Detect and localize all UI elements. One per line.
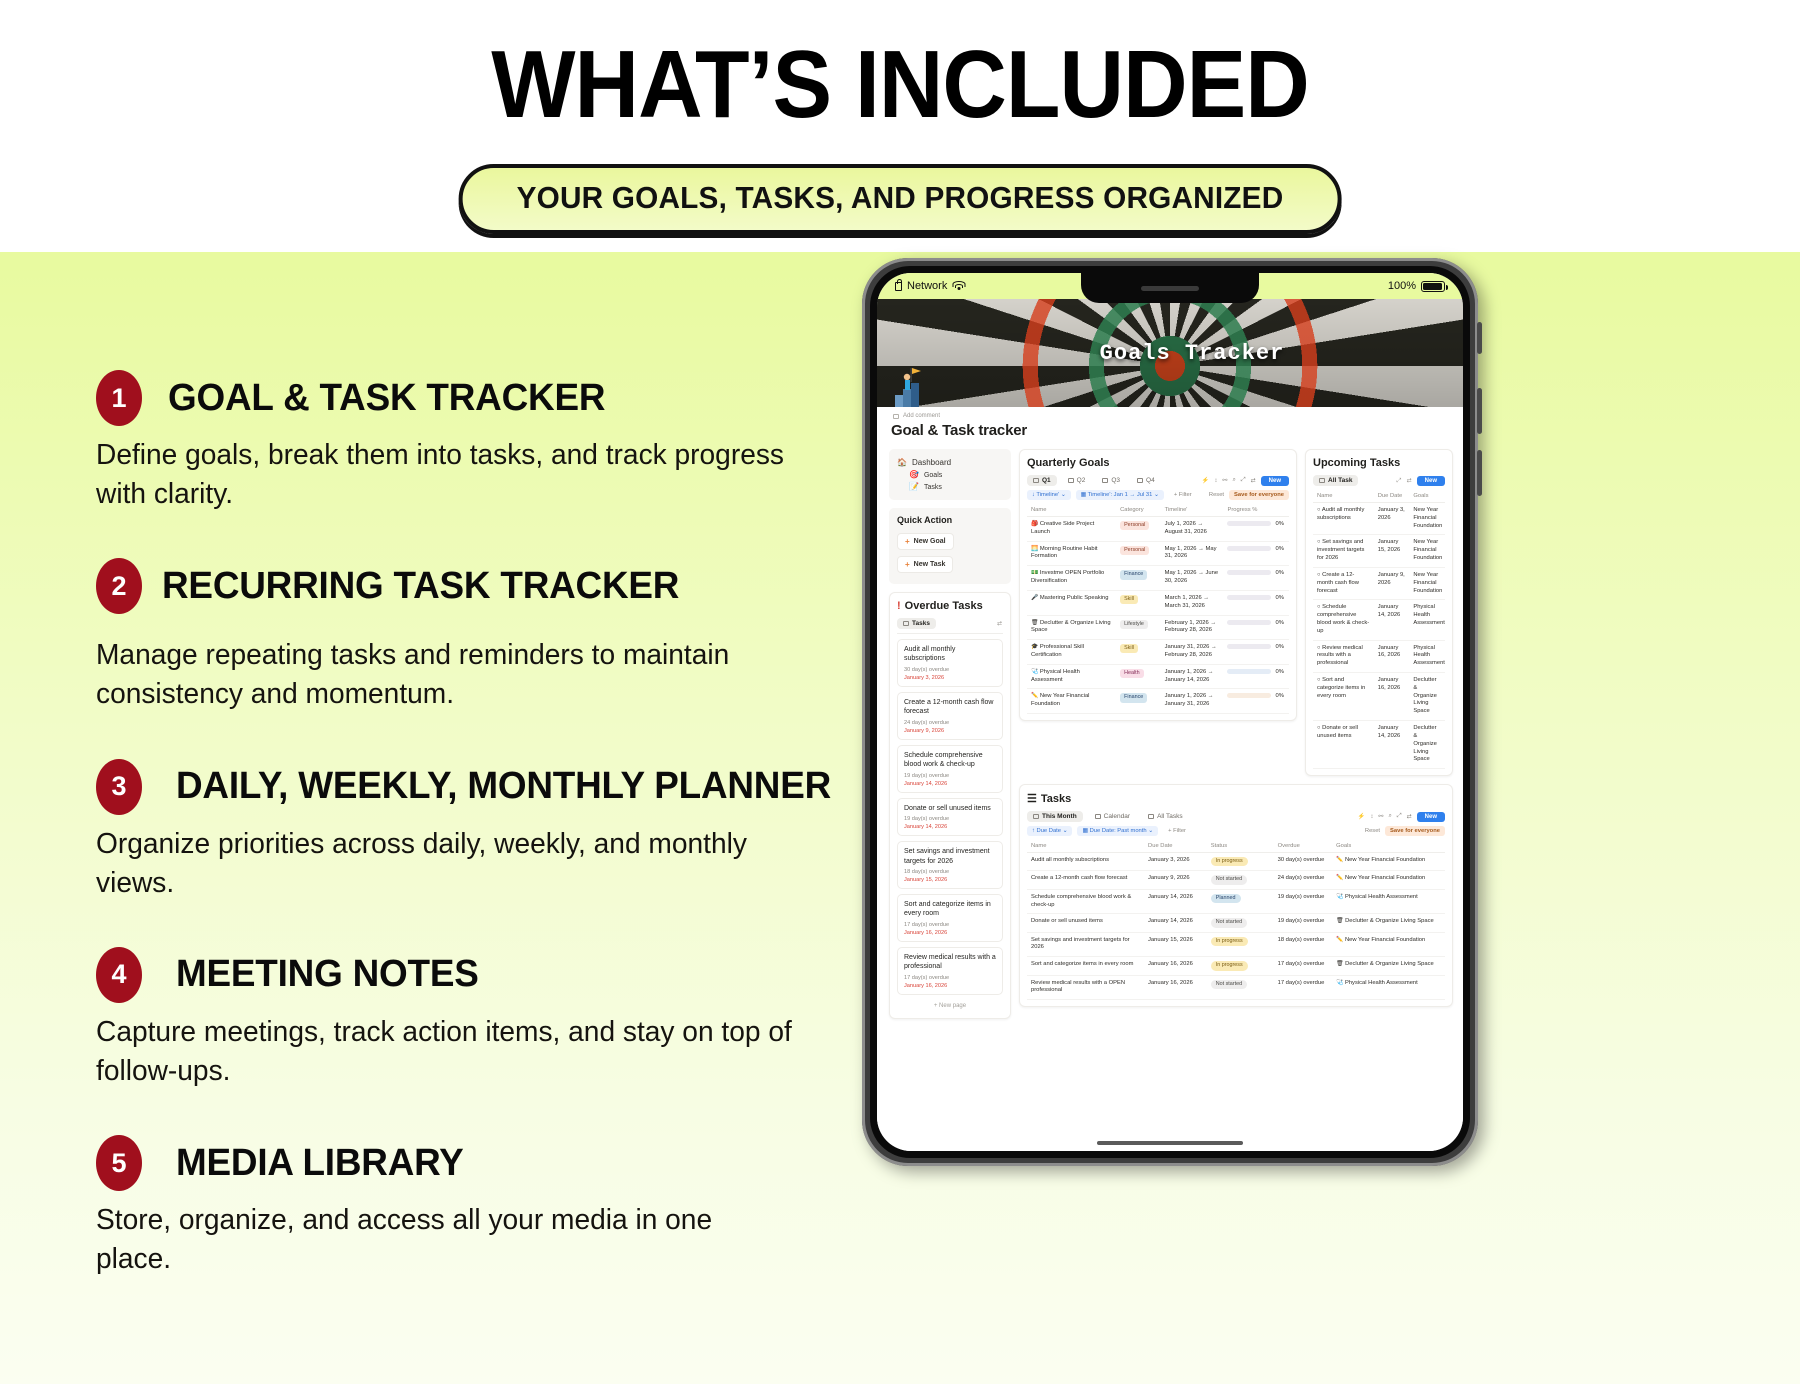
battery-icon (1421, 281, 1445, 292)
feature-title: GOAL & TASK TRACKER (168, 377, 605, 420)
feature-heading-row: 4 MEETING NOTES (96, 947, 926, 1003)
progress-label: 0% (1275, 693, 1283, 699)
feature-heading-row: 3 DAILY, WEEKLY, MONTHLY PLANNER (96, 759, 926, 815)
wifi-icon (952, 281, 965, 291)
col-goals: Goals (1332, 840, 1445, 853)
task-goal: 🗑 Declutter & Organize Living Space (1332, 957, 1445, 975)
sidebar-item-goals[interactable]: 🎯 Goals (897, 469, 1003, 481)
upcoming-tasks-panel: Upcoming Tasks All Task ⤢ ⇄ New (1305, 449, 1453, 776)
task-name: ○ Review medical results with a professi… (1313, 640, 1374, 672)
goal-name-label: Professional Skill Certification (1031, 644, 1084, 658)
task-due: January 3, 2026 (1144, 853, 1207, 871)
task-name-label: Sort and categorize items in every room (1317, 677, 1365, 699)
automation-icon[interactable]: ⚡ (1202, 477, 1209, 484)
feature-description: Manage repeating tasks and reminders to … (96, 636, 794, 714)
goal-label: New Year Financial Foundation (1345, 875, 1425, 881)
table-header-row: Name Due Date Status Overdue Goals (1027, 840, 1445, 853)
category-tag: Finance (1120, 693, 1147, 702)
task-date: January 16, 2026 (904, 983, 996, 989)
col-category: Category (1116, 504, 1161, 517)
feature-title: RECURRING TASK TRACKER (162, 565, 679, 608)
list-item[interactable]: Sort and categorize items in every room … (897, 894, 1003, 942)
table-row[interactable]: 🎓 Professional Skill Certification Skill… (1027, 640, 1289, 665)
category-tag: Health (1120, 669, 1144, 678)
new-goal-button[interactable]: + New Goal (897, 533, 954, 550)
save-for-everyone-button[interactable]: Save for everyone (1229, 490, 1289, 500)
quarterly-goals-toolbar: Q1 Q2 Q3 Q4 ⚡ ↕ ⚯ ⌕ (1027, 475, 1289, 486)
goal-name-label: New Year Financial Foundation (1031, 693, 1089, 707)
tab-q3-label: Q3 (1111, 477, 1120, 484)
feature-number-badge: 5 (96, 1135, 142, 1191)
goal-emoji-icon: ✏️ (1031, 693, 1038, 699)
notion-columns: 🏠 Dashboard 🎯 Goals 📝 Tasks (889, 449, 1453, 1019)
timeline-filter-chip[interactable]: ▦ Timeline': Jan 1 → Jul 31 ⌄ (1076, 490, 1164, 500)
goal-name-label: Mastering Public Speaking (1040, 595, 1109, 601)
status-badge: Not started (1211, 980, 1247, 989)
options-icon[interactable]: ⇄ (1407, 813, 1412, 820)
tablet-screen: Network 100% Goals Tracker (877, 273, 1463, 1151)
goal-emoji-icon: 🎒 (1031, 521, 1038, 527)
tab-this-month-label: This Month (1042, 813, 1077, 820)
sort-chip[interactable]: ↑ Due Date ⌄ (1027, 826, 1072, 836)
table-row[interactable]: 🎤 Mastering Public Speaking Skill March … (1027, 590, 1289, 615)
tab-all-task-label: All Task (1328, 477, 1352, 484)
goal-name: 🎤 Mastering Public Speaking (1027, 590, 1116, 615)
table-row[interactable]: ○ Create a 12-month cash flow forecastJa… (1313, 567, 1445, 599)
new-task-button[interactable]: + New Task (897, 556, 953, 573)
task-name: Schedule comprehensive blood work & chec… (904, 751, 996, 770)
tab-all-task[interactable]: All Task (1313, 475, 1358, 486)
filter-icon[interactable]: ⇄ (997, 621, 1003, 627)
feature-item: 5 MEDIA LIBRARY Store, organize, and acc… (96, 1135, 926, 1279)
save-for-everyone-button[interactable]: Save for everyone (1385, 826, 1445, 836)
checkbox-icon[interactable]: ○ (1317, 725, 1321, 731)
tablet-mockup: Network 100% Goals Tracker (862, 258, 1478, 1166)
task-goal: New Year Financial Foundation (1409, 503, 1445, 535)
goal-progress: 0% (1223, 517, 1289, 542)
feature-description: Store, organize, and access all your med… (96, 1201, 794, 1279)
new-page-button[interactable]: + New page (897, 1000, 1003, 1012)
list-icon: 📝 (909, 483, 919, 491)
category-tag: Personal (1120, 546, 1149, 555)
task-overdue: 18 day(s) overdue (1274, 932, 1333, 957)
new-goal-button[interactable]: New (1261, 476, 1289, 486)
feature-number-badge: 2 (96, 558, 142, 614)
expand-icon[interactable]: ⤢ (1397, 478, 1403, 484)
goal-progress: 0% (1223, 541, 1289, 566)
list-item[interactable]: Review medical results with a profession… (897, 947, 1003, 995)
goal-progress: 0% (1223, 590, 1289, 615)
task-name-label: Audit all monthly subscriptions (1317, 507, 1364, 521)
goal-timeline: March 1, 2026 → March 31, 2026 (1161, 590, 1224, 615)
overdue-tasks-title: Overdue Tasks (905, 600, 983, 612)
task-name: Set savings and investment targets for 2… (904, 847, 996, 866)
table-row[interactable]: ✏️ New Year Financial Foundation Finance… (1027, 689, 1289, 714)
progress-bar (1227, 521, 1271, 526)
goal-name: 💵 Investme OPEN Portfolio Diversificatio… (1027, 566, 1116, 591)
goal-timeline: May 1, 2026 → June 30, 2026 (1161, 566, 1224, 591)
task-overdue: 30 day(s) overdue (904, 667, 996, 673)
hero-title: Goals Tracker (877, 299, 1463, 407)
tab-q4[interactable]: Q4 (1131, 475, 1161, 486)
task-due: January 14, 2026 (1374, 721, 1410, 769)
goal-emoji-icon: ✏️ (1336, 857, 1343, 863)
goal-name: 🎓 Professional Skill Certification (1027, 640, 1116, 665)
goal-name-label: Declutter & Organize Living Space (1031, 620, 1111, 634)
quick-action-card: Quick Action + New Goal + New Task (889, 508, 1011, 584)
reset-button[interactable]: Reset (1365, 828, 1380, 834)
network-label: Network (907, 280, 947, 292)
checkbox-icon[interactable]: ○ (1317, 507, 1321, 513)
grid-icon (1102, 478, 1108, 483)
task-name: Review medical results with a OPEN profe… (1027, 975, 1144, 1000)
progress-bar (1227, 693, 1271, 698)
options-icon[interactable]: ⇄ (1251, 477, 1256, 484)
search-icon[interactable]: ⌕ (1232, 477, 1235, 484)
battery-percent-label: 100% (1388, 280, 1416, 292)
task-goal: New Year Financial Foundation (1409, 567, 1445, 599)
new-task-label: New Task (914, 561, 946, 568)
dashboard-nav-card: 🏠 Dashboard 🎯 Goals 📝 Tasks (889, 449, 1011, 500)
feature-item: 1 GOAL & TASK TRACKER Define goals, brea… (96, 370, 926, 514)
sidebar-item-label: Dashboard (912, 458, 951, 467)
task-due: January 14, 2026 (1374, 600, 1410, 640)
tab-tasks[interactable]: Tasks (897, 618, 936, 629)
category-tag: Finance (1120, 570, 1147, 579)
table-row[interactable]: Review medical results with a OPEN profe… (1027, 975, 1445, 1000)
expand-icon[interactable]: ⤢ (1397, 813, 1402, 820)
sidebar-item-label: Goals (924, 472, 942, 479)
table-row[interactable]: 🩺 Physical Health Assessment Health Janu… (1027, 664, 1289, 689)
list-item[interactable]: Audit all monthly subscriptions 30 day(s… (897, 639, 1003, 687)
sort-icon[interactable]: ↕ (1370, 814, 1373, 820)
tab-q1[interactable]: Q1 (1027, 475, 1057, 486)
progress-bar (1227, 570, 1271, 575)
goal-name-label: Creative Side Project Launch (1031, 521, 1094, 535)
goal-category: Personal (1116, 517, 1161, 542)
search-icon[interactable]: ⌕ (1388, 813, 1391, 820)
tab-this-month[interactable]: This Month (1027, 811, 1083, 822)
goal-label: New Year Financial Foundation (1345, 937, 1425, 943)
task-goal: New Year Financial Foundation (1409, 535, 1445, 567)
table-row[interactable]: ○ Audit all monthly subscriptionsJanuary… (1313, 503, 1445, 535)
tasks-title: Tasks (1041, 793, 1071, 805)
due-date-filter-chip[interactable]: ▦ Due Date: Past month ⌄ (1077, 826, 1158, 836)
feature-number-badge: 4 (96, 947, 142, 1003)
task-due: January 15, 2026 (1144, 932, 1207, 957)
sort-chip-label: Timeline' (1036, 492, 1059, 498)
goal-name: ✏️ New Year Financial Foundation (1027, 689, 1116, 714)
col-name: Name (1027, 840, 1144, 853)
add-filter-button[interactable]: + Filter (1169, 490, 1197, 500)
list-icon: ☰ (1027, 792, 1037, 805)
task-status: Not started (1207, 975, 1274, 1000)
plus-icon: + (905, 537, 910, 546)
reset-button[interactable]: Reset (1209, 492, 1224, 498)
progress-label: 0% (1275, 521, 1283, 527)
task-name: Review medical results with a profession… (904, 953, 996, 972)
goal-emoji-icon: 🌅 (1031, 546, 1038, 552)
task-overdue: 18 day(s) overdue (904, 869, 996, 875)
subtitle-text: YOUR GOALS, TASKS, AND PROGRESS ORGANIZE… (517, 180, 1284, 216)
tasks-filters: ↑ Due Date ⌄ ▦ Due Date: Past month ⌄ + … (1027, 826, 1445, 836)
goal-category: Lifestyle (1116, 615, 1161, 640)
table-row[interactable]: Schedule comprehensive blood work & chec… (1027, 889, 1445, 914)
goal-emoji-icon: 🎓 (1031, 644, 1038, 650)
tab-q3[interactable]: Q3 (1096, 475, 1126, 486)
tab-q1-label: Q1 (1042, 477, 1051, 484)
volume-down-button[interactable] (1477, 450, 1482, 496)
progress-label: 0% (1275, 669, 1283, 675)
task-date: January 15, 2026 (904, 877, 996, 883)
sidebar-item-tasks[interactable]: 📝 Tasks (897, 481, 1003, 493)
task-due: January 3, 2026 (1374, 503, 1410, 535)
goal-timeline: February 1, 2026 → February 28, 2026 (1161, 615, 1224, 640)
goal-name-label: Morning Routine Habit Formation (1031, 546, 1098, 560)
task-overdue: 19 day(s) overdue (1274, 914, 1333, 932)
grid-icon (1033, 478, 1039, 483)
goal-emoji-icon: 🩺 (1336, 980, 1343, 986)
header-band: WHAT’S INCLUDED YOUR GOALS, TASKS, AND P… (0, 0, 1800, 292)
sidebar-item-dashboard[interactable]: 🏠 Dashboard (897, 456, 1003, 469)
task-overdue: 19 day(s) overdue (904, 773, 996, 779)
col-status: Status (1207, 840, 1274, 853)
feature-item: 3 DAILY, WEEKLY, MONTHLY PLANNER Organiz… (96, 759, 926, 903)
goal-emoji-icon: ✏️ (1336, 937, 1343, 943)
table-row[interactable]: 💵 Investme OPEN Portfolio Diversificatio… (1027, 566, 1289, 591)
task-overdue: 24 day(s) overdue (904, 720, 996, 726)
table-row[interactable]: ○ Donate or sell unused itemsJanuary 14,… (1313, 721, 1445, 769)
plus-icon: + (905, 560, 910, 569)
automation-icon[interactable]: ⚡ (1358, 813, 1365, 820)
quarterly-goals-tools: ⚡ ↕ ⚯ ⌕ ⤢ ⇄ New (1202, 476, 1289, 486)
goal-progress: 0% (1223, 566, 1289, 591)
new-goal-label: New Goal (914, 538, 946, 545)
col-goals: Goals (1409, 490, 1445, 503)
task-name-label: Schedule comprehensive blood work & chec… (1317, 604, 1369, 633)
quick-action-title: Quick Action (897, 515, 1003, 525)
progress-bar (1227, 546, 1271, 551)
table-row[interactable]: Create a 12-month cash flow forecast Jan… (1027, 871, 1445, 889)
progress-bar (1227, 644, 1271, 649)
sidebar-item-label: Tasks (924, 484, 942, 491)
task-name: Donate or sell unused items (1027, 914, 1144, 932)
tab-tasks-label: Tasks (912, 620, 930, 627)
overdue-tasks-heading: ! Overdue Tasks (897, 600, 1003, 612)
task-name-label: Create a 12-month cash flow forecast (1317, 572, 1359, 594)
tab-all-tasks[interactable]: All Tasks (1142, 811, 1189, 822)
overdue-tabs: Tasks ⇄ (897, 618, 1003, 634)
table-row[interactable]: ○ Sort and categorize items in every roo… (1313, 673, 1445, 721)
goal-timeline: May 1, 2026 → May 31, 2026 (1161, 541, 1224, 566)
table-header-row: Name Category Timeline' Progress % (1027, 504, 1289, 517)
task-status: Not started (1207, 914, 1274, 932)
checkbox-icon[interactable]: ○ (1317, 604, 1321, 610)
goal-name: 🗑 Declutter & Organize Living Space (1027, 615, 1116, 640)
notion-page-heading: Goal & Task tracker (891, 422, 1453, 439)
col-progress: Progress % (1223, 504, 1289, 517)
goal-emoji-icon: 🩺 (1336, 894, 1343, 900)
goal-progress: 0% (1223, 689, 1289, 714)
task-date: January 14, 2026 (904, 824, 996, 830)
sort-icon[interactable]: ↕ (1214, 478, 1217, 484)
task-goal: Declutter & Organize Living Space (1409, 673, 1445, 721)
task-goal: Declutter & Organize Living Space (1409, 721, 1445, 769)
feature-number-badge: 3 (96, 759, 142, 815)
grid-icon (1319, 478, 1325, 483)
tab-calendar[interactable]: Calendar (1089, 811, 1136, 822)
goal-timeline: January 1, 2026 → January 31, 2026 (1161, 689, 1224, 714)
speaker-grille (1141, 286, 1199, 291)
col-due-date: Due Date (1144, 840, 1207, 853)
goal-emoji-icon: 🗑 (1031, 620, 1038, 626)
new-task-button[interactable]: New (1417, 476, 1445, 486)
person-with-flag-icon (893, 365, 927, 407)
new-task-button[interactable]: New (1417, 812, 1445, 822)
lightning-icon[interactable]: ⚯ (1222, 477, 1227, 484)
table-row[interactable]: Sort and categorize items in every room … (1027, 957, 1445, 975)
due-date-filter-label: Due Date: Past month (1090, 828, 1147, 834)
list-item[interactable]: Donate or sell unused items 19 day(s) ov… (897, 798, 1003, 836)
table-row[interactable]: Set savings and investment targets for 2… (1027, 932, 1445, 957)
feature-description: Capture meetings, track action items, an… (96, 1013, 794, 1091)
grid-icon (1137, 478, 1143, 483)
task-name: Audit all monthly subscriptions (904, 645, 996, 664)
goal-category: Finance (1116, 566, 1161, 591)
table-row[interactable]: 🗑 Declutter & Organize Living Space Life… (1027, 615, 1289, 640)
home-indicator[interactable] (1097, 1141, 1243, 1145)
tab-q4-label: Q4 (1146, 477, 1155, 484)
grid-icon (1033, 814, 1039, 819)
task-date: January 14, 2026 (904, 781, 996, 787)
tablet-bezel: Network 100% Goals Tracker (870, 266, 1470, 1158)
goal-name: 🩺 Physical Health Assessment (1027, 664, 1116, 689)
status-bar-left: Network (895, 280, 965, 292)
table-row[interactable]: Donate or sell unused items January 14, … (1027, 914, 1445, 932)
task-overdue: 19 day(s) overdue (1274, 889, 1333, 914)
checkbox-icon[interactable]: ○ (1317, 677, 1321, 683)
feature-item: 4 MEETING NOTES Capture meetings, track … (96, 947, 926, 1091)
features-list: 1 GOAL & TASK TRACKER Define goals, brea… (96, 370, 926, 1323)
checkbox-icon[interactable]: ○ (1317, 539, 1321, 545)
task-name: ○ Create a 12-month cash flow forecast (1313, 567, 1374, 599)
goal-timeline: January 1, 2026 → January 14, 2026 (1161, 664, 1224, 689)
status-badge: Not started (1211, 875, 1247, 884)
quarterly-goals-heading: Quarterly Goals (1027, 457, 1289, 469)
goal-name: 🎒 Creative Side Project Launch (1027, 517, 1116, 542)
overdue-task-list: Audit all monthly subscriptions 30 day(s… (897, 639, 1003, 995)
lightning-icon[interactable]: ⚯ (1378, 813, 1383, 820)
progress-label: 0% (1275, 644, 1283, 650)
task-overdue: 17 day(s) overdue (904, 975, 996, 981)
task-goal: ✏️ New Year Financial Foundation (1332, 871, 1445, 889)
task-name: Sort and categorize items in every room (904, 900, 996, 919)
task-status: Planned (1207, 889, 1274, 914)
goal-label: New Year Financial Foundation (1345, 857, 1425, 863)
upcoming-tasks-heading: Upcoming Tasks (1313, 457, 1445, 469)
goal-label: Declutter & Organize Living Space (1345, 918, 1434, 924)
add-filter-button[interactable]: + Filter (1163, 826, 1191, 836)
progress-label: 0% (1275, 570, 1283, 576)
expand-icon[interactable]: ⤢ (1241, 477, 1246, 484)
grid-icon (1068, 478, 1074, 483)
task-status: Not started (1207, 871, 1274, 889)
table-row[interactable]: ○ Schedule comprehensive blood work & ch… (1313, 600, 1445, 640)
comment-icon (893, 414, 899, 419)
feature-title: DAILY, WEEKLY, MONTHLY PLANNER (176, 765, 831, 808)
task-name: Donate or sell unused items (904, 804, 996, 813)
task-overdue: 30 day(s) overdue (1274, 853, 1333, 871)
col-due-date: Due Date (1374, 490, 1410, 503)
table-row[interactable]: ○ Review medical results with a professi… (1313, 640, 1445, 672)
add-comment-label: Add comment (903, 413, 940, 419)
home-icon: 🏠 (897, 459, 907, 467)
checkbox-icon[interactable]: ○ (1317, 645, 1321, 651)
task-due: January 16, 2026 (1374, 673, 1410, 721)
tab-q2[interactable]: Q2 (1062, 475, 1092, 486)
task-overdue: 17 day(s) overdue (1274, 975, 1333, 1000)
goal-name-label: Investme OPEN Portfolio Diversification (1031, 570, 1104, 584)
options-icon[interactable]: ⇄ (1407, 478, 1413, 484)
task-name: Set savings and investment targets for 2… (1027, 932, 1144, 957)
table-row[interactable]: 🎒 Creative Side Project Launch Personal … (1027, 517, 1289, 542)
progress-label: 0% (1275, 546, 1283, 552)
task-due: January 14, 2026 (1144, 889, 1207, 914)
table-row[interactable]: ○ Set savings and investment targets for… (1313, 535, 1445, 567)
subtitle-wrapper: YOUR GOALS, TASKS, AND PROGRESS ORGANIZE… (459, 164, 1342, 234)
goal-emoji-icon: 🗑 (1336, 918, 1343, 924)
add-comment-row[interactable]: Add comment (893, 413, 1453, 419)
goal-emoji-icon: 🗑 (1336, 961, 1343, 967)
feature-title: MEDIA LIBRARY (176, 1142, 464, 1185)
feature-description: Organize priorities across daily, weekly… (96, 825, 794, 903)
col-overdue: Overdue (1274, 840, 1333, 853)
task-goal: Physical Health Assessment (1409, 640, 1445, 672)
feature-heading-row: 2 RECURRING TASK TRACKER (96, 558, 926, 614)
list-item[interactable]: Create a 12-month cash flow forecast 24 … (897, 692, 1003, 740)
goal-progress: 0% (1223, 640, 1289, 665)
feature-heading-row: 5 MEDIA LIBRARY (96, 1135, 926, 1191)
sort-chip[interactable]: ↓ Timeline' ⌄ (1027, 490, 1071, 500)
tasks-table: Name Due Date Status Overdue Goals Audit… (1027, 840, 1445, 1000)
status-bar-right: 100% (1388, 280, 1445, 292)
status-badge: Planned (1211, 894, 1241, 903)
task-overdue: 24 day(s) overdue (1274, 871, 1333, 889)
calendar-icon (1095, 814, 1101, 819)
table-row[interactable]: 🌅 Morning Routine Habit Formation Person… (1027, 541, 1289, 566)
task-name: Create a 12-month cash flow forecast (904, 698, 996, 717)
task-overdue: 17 day(s) overdue (1274, 957, 1333, 975)
status-badge: In progress (1211, 937, 1248, 946)
checkbox-icon[interactable]: ○ (1317, 572, 1321, 578)
table-row[interactable]: Audit all monthly subscriptions January … (1027, 853, 1445, 871)
task-name: ○ Donate or sell unused items (1313, 721, 1374, 769)
task-status: In progress (1207, 853, 1274, 871)
goal-category: Health (1116, 664, 1161, 689)
task-name-label: Donate or sell unused items (1317, 725, 1358, 739)
volume-up-button[interactable] (1477, 388, 1482, 434)
task-due: January 16, 2026 (1144, 957, 1207, 975)
task-due: January 9, 2026 (1144, 871, 1207, 889)
list-item[interactable]: Set savings and investment targets for 2… (897, 841, 1003, 889)
power-button[interactable] (1477, 322, 1482, 354)
feature-title: MEETING NOTES (176, 953, 479, 996)
category-tag: Lifestyle (1120, 620, 1148, 629)
task-status: In progress (1207, 932, 1274, 957)
grid-icon (1148, 814, 1154, 819)
list-item[interactable]: Schedule comprehensive blood work & chec… (897, 745, 1003, 793)
task-name: Create a 12-month cash flow forecast (1027, 871, 1144, 889)
